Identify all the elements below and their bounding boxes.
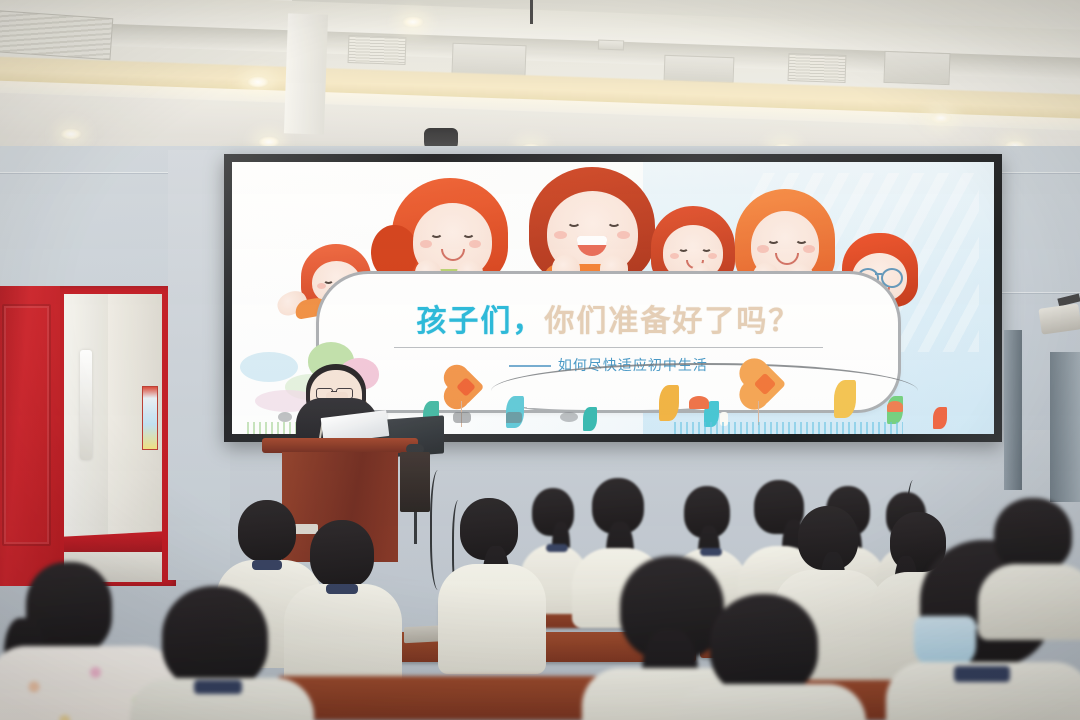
slide-leaf-icon [834, 380, 856, 418]
slide-leaf-icon [659, 385, 679, 421]
slide-overlay-icon [560, 412, 578, 422]
hallway-window-slot [80, 350, 92, 460]
vent-small-icon [598, 40, 624, 51]
slide-title-part2: 你们准备好了吗？ [544, 304, 800, 339]
student [986, 498, 1080, 628]
cable [430, 470, 450, 590]
slide-title-part1: 孩子们， [416, 304, 544, 339]
slide-cloud-icon [240, 352, 298, 382]
student [448, 498, 534, 662]
downlight-icon [402, 16, 424, 28]
podium-top [262, 438, 418, 453]
wall-beside-door [168, 150, 230, 580]
face-mask-icon [914, 616, 976, 668]
slide-overlay-icon [278, 412, 292, 422]
screenshot-root: 孩子们，你们准备好了吗？ 如何尽快适应初中生活 [0, 0, 1080, 720]
slide-overlay-chat-icon [506, 412, 522, 423]
student [296, 520, 388, 690]
ceiling-wire [530, 0, 533, 24]
vent-panel-icon [664, 55, 735, 83]
slide-subtitle-dash-icon [509, 365, 551, 367]
slide-grass-strip [674, 422, 903, 434]
student [142, 586, 292, 720]
wall-mounted-projector-icon [1038, 303, 1080, 334]
slide-mushroom-icon [689, 396, 709, 409]
vent-panel-icon [883, 51, 950, 85]
vent-louver-icon [348, 35, 407, 65]
ceiling-pillar [284, 13, 328, 134]
slide-mushroom-icon [887, 401, 903, 412]
downlight-icon [930, 112, 952, 124]
bench [278, 676, 608, 720]
side-speaker-box [400, 452, 430, 512]
cartoon-kid-boy-laughing [529, 167, 655, 285]
student [686, 594, 846, 720]
wall-column-right-edge [1050, 352, 1080, 502]
slide-title: 孩子们，你们准备好了吗？ [319, 296, 898, 340]
open-doorway [64, 294, 162, 582]
slide-leaf-icon [583, 407, 597, 431]
hallway-poster [142, 386, 158, 450]
slide-banner: 孩子们，你们准备好了吗？ 如何尽快适应初中生活 [316, 271, 901, 413]
slide-overlay-video-icon [453, 412, 471, 423]
wall-column-left-edge [1004, 330, 1022, 490]
red-door-panel[interactable] [0, 286, 60, 586]
slide-leaf-icon [933, 407, 947, 429]
ac-grille-icon [0, 10, 113, 60]
ceiling [0, 0, 1080, 152]
slide-title-rule [394, 347, 823, 348]
downlight-icon [60, 128, 82, 140]
vent-louver-icon [788, 53, 847, 83]
downlight-icon [247, 76, 269, 88]
